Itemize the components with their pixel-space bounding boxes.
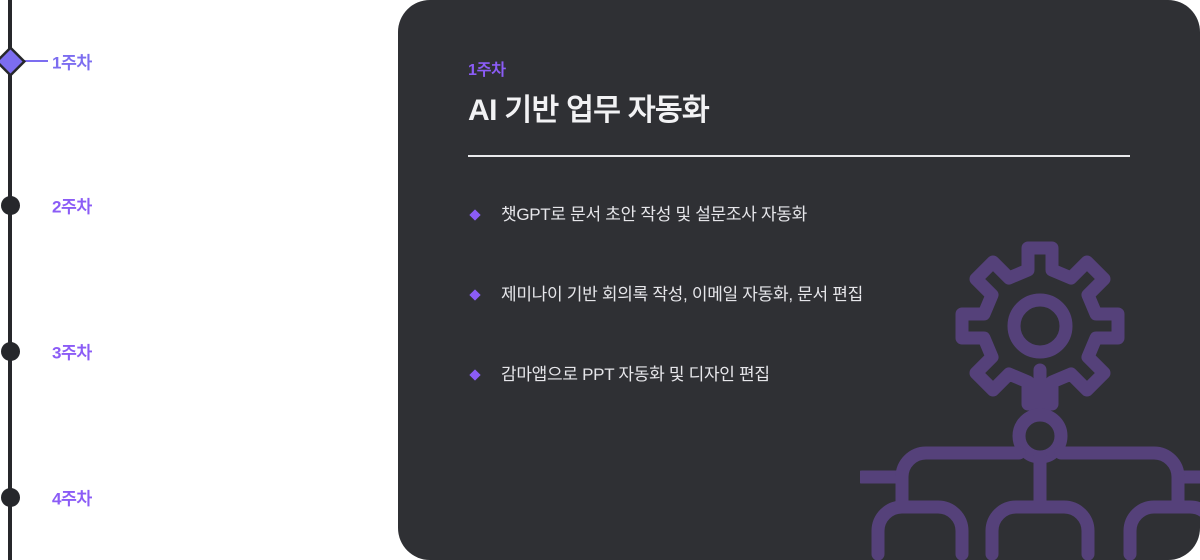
- timeline-rail: [8, 0, 12, 560]
- timeline-label-week-2: 2주차: [52, 193, 92, 218]
- list-item: 챗GPT로 문서 초안 작성 및 설문조사 자동화: [468, 198, 1130, 232]
- page-title: AI 기반 업무 자동화: [468, 92, 1130, 130]
- timeline-label-week-4: 4주차: [52, 485, 92, 510]
- timeline-label-week-1: 1주차: [52, 49, 92, 74]
- diamond-marker-icon: [0, 49, 22, 73]
- card-eyebrow-week: 1주차: [468, 56, 1130, 80]
- diamond-bullet-icon: [469, 289, 480, 300]
- card-content: 1주차 AI 기반 업무 자동화 챗GPT로 문서 초안 작성 및 설문조사 자…: [398, 0, 1200, 560]
- timeline-connector-line: [20, 60, 48, 62]
- list-item: 제미나이 기반 회의록 작성, 이메일 자동화, 문서 편집: [468, 278, 1130, 312]
- slide-root: 1주차 2주차 3주차 4주차: [0, 0, 1200, 560]
- timeline-label-week-3: 3주차: [52, 339, 92, 364]
- week-timeline: 1주차 2주차 3주차 4주차: [0, 0, 398, 560]
- list-item: 감마앱으로 PPT 자동화 및 디자인 편집: [468, 358, 1130, 392]
- diamond-bullet-icon: [469, 209, 480, 220]
- dot-marker-icon: [1, 488, 20, 507]
- list-item-label: 제미나이 기반 회의록 작성, 이메일 자동화, 문서 편집: [501, 283, 863, 307]
- list-item-label: 챗GPT로 문서 초안 작성 및 설문조사 자동화: [501, 203, 807, 227]
- diamond-bullet-icon: [469, 369, 480, 380]
- dot-marker-icon: [1, 196, 20, 215]
- week-detail-card: 1주차 AI 기반 업무 자동화 챗GPT로 문서 초안 작성 및 설문조사 자…: [398, 0, 1200, 560]
- title-divider: [468, 155, 1130, 157]
- curriculum-list: 챗GPT로 문서 초안 작성 및 설문조사 자동화 제미나이 기반 회의록 작성…: [468, 198, 1130, 392]
- dot-marker-icon: [1, 342, 20, 361]
- list-item-label: 감마앱으로 PPT 자동화 및 디자인 편집: [501, 363, 770, 387]
